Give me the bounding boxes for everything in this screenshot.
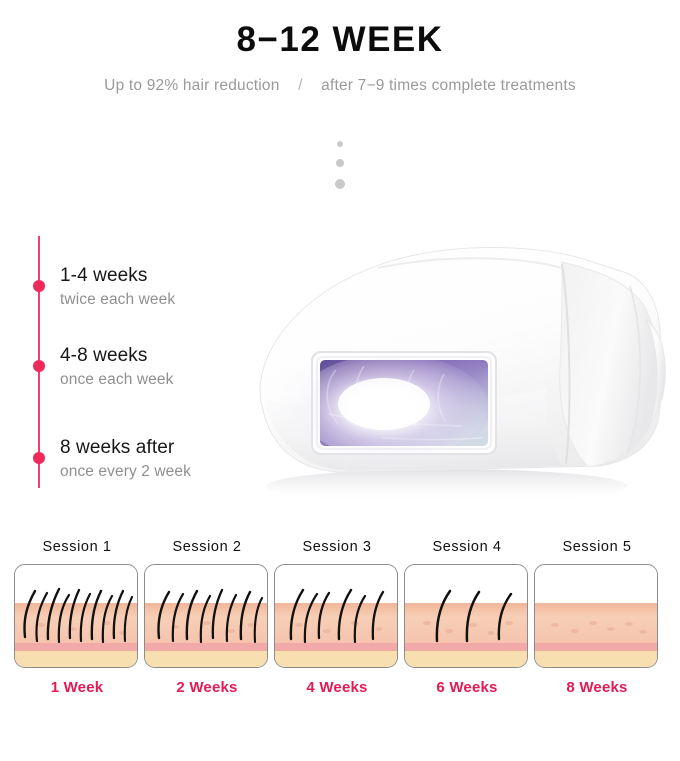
skin-cross-section	[145, 565, 267, 667]
timeline-item-1-text: 1-4 weeks twice each week	[60, 264, 175, 310]
timeline-item-2-text: 4-8 weeks once each week	[60, 344, 173, 390]
dot-icon-medium	[336, 159, 344, 167]
session-1-skin-diagram	[14, 564, 138, 668]
session-2-skin-diagram	[144, 564, 268, 668]
sessions-row: Session 1	[0, 540, 680, 740]
timeline-item-1-title: 1-4 weeks	[60, 264, 175, 288]
header-subtitle: Up to 92% hair reduction / after 7−9 tim…	[0, 59, 680, 95]
timeline-dot-icon	[33, 452, 45, 464]
skin-cross-section	[405, 565, 527, 667]
subtitle-right: after 7−9 times complete treatments	[321, 77, 576, 94]
session-4-week-label: 6 Weeks	[404, 668, 530, 696]
session-panel-1: Session 1	[14, 540, 140, 696]
session-3-title: Session 3	[274, 540, 400, 564]
page-title: 8−12 WEEK	[0, 0, 680, 59]
session-4-title: Session 4	[404, 540, 530, 564]
skin-cross-section	[275, 565, 397, 667]
progress-dots	[0, 141, 680, 189]
session-4-skin-diagram	[404, 564, 528, 668]
session-3-skin-diagram	[274, 564, 398, 668]
timeline-item-2-title: 4-8 weeks	[60, 344, 173, 368]
session-panel-2: Session 2	[144, 540, 270, 696]
session-2-week-label: 2 Weeks	[144, 668, 270, 696]
header: 8−12 WEEK Up to 92% hair reduction / aft…	[0, 0, 680, 95]
dot-icon-large	[335, 179, 345, 189]
dot-icon-small	[337, 141, 343, 147]
session-panel-5: Session 5 8 Weeks	[534, 540, 660, 696]
session-5-skin-diagram	[534, 564, 658, 668]
timeline-item-3-title: 8 weeks after	[60, 436, 191, 460]
device-image	[232, 228, 680, 528]
timeline-dot-icon	[33, 280, 45, 292]
timeline-item-2-desc: once each week	[60, 368, 173, 390]
timeline-item-3-desc: once every 2 week	[60, 460, 191, 482]
timeline-item-3-text: 8 weeks after once every 2 week	[60, 436, 191, 482]
session-3-week-label: 4 Weeks	[274, 668, 400, 696]
session-5-title: Session 5	[534, 540, 660, 564]
ipl-handset-illustration	[232, 228, 680, 528]
timeline-item-1-desc: twice each week	[60, 288, 175, 310]
session-5-week-label: 8 Weeks	[534, 668, 660, 696]
session-panel-3: Session 3 4	[274, 540, 400, 696]
skin-cross-section	[535, 565, 657, 667]
subtitle-left: Up to 92% hair reduction	[104, 77, 279, 94]
session-1-title: Session 1	[14, 540, 140, 564]
timeline-dot-icon	[33, 360, 45, 372]
treatment-schedule-section: 1-4 weeks twice each week 4-8 weeks once…	[0, 228, 680, 528]
subtitle-separator: /	[284, 77, 317, 95]
session-panel-4: Session 4 6 Weeks	[404, 540, 530, 696]
session-2-title: Session 2	[144, 540, 270, 564]
skin-cross-section	[15, 565, 137, 667]
session-1-week-label: 1 Week	[14, 668, 140, 696]
